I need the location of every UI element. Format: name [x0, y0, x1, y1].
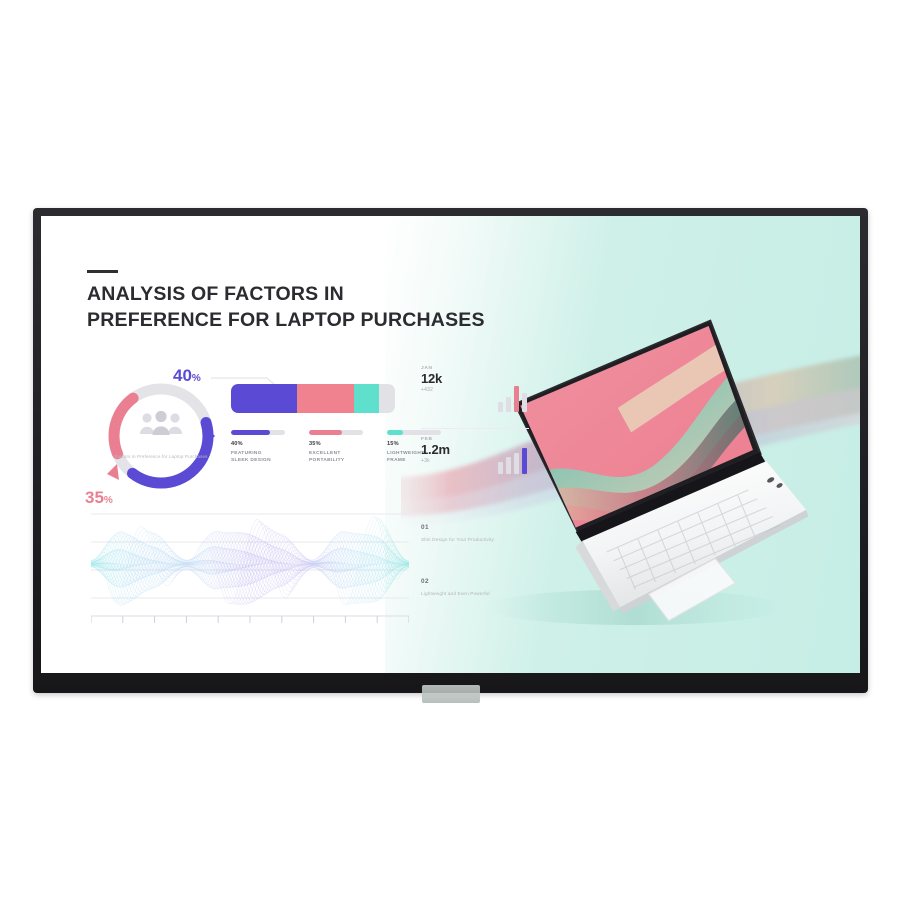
stat-value: 12k [421, 371, 529, 387]
stacked-bar-segment [231, 384, 297, 413]
legend-percent: 40% [231, 441, 285, 447]
note-item: 01Slim Design for Your Productivity [421, 524, 533, 544]
legend-item: 40%FEATURING SLEEK DESIGN [231, 430, 285, 464]
donut-bottom-value: 35 [85, 488, 104, 507]
stat-mini-bar [522, 393, 527, 412]
note-item: 02Lightweight and Even Powerful [421, 578, 533, 598]
stat-mini-bar [498, 462, 503, 474]
stacked-bar-chart [231, 384, 395, 413]
stat-mini-bar [514, 453, 519, 474]
accent-rule [87, 270, 118, 273]
stat-mini-bar [514, 386, 519, 412]
donut-bottom-symbol: % [104, 495, 113, 506]
legend-fill [309, 430, 342, 435]
monitor-screen: ANALYSIS OF FACTORS IN PREFERENCE FOR LA… [41, 216, 860, 673]
page-root: ANALYSIS OF FACTORS IN PREFERENCE FOR LA… [0, 0, 900, 900]
monitor-bezel: ANALYSIS OF FACTORS IN PREFERENCE FOR LA… [33, 208, 868, 693]
legend-track [231, 430, 285, 435]
stats-panel: JAN12k+432FEB1.2m+3k [421, 366, 529, 490]
legend-label: FEATURING SLEEK DESIGN [231, 450, 285, 464]
people-group-icon [139, 410, 183, 436]
legend-group: 40%FEATURING SLEEK DESIGN35%EXCELLENT PO… [231, 430, 441, 464]
monitor-device: ANALYSIS OF FACTORS IN PREFERENCE FOR LA… [33, 208, 868, 693]
stat-mini-bar [506, 457, 511, 474]
stat-mini-bar-chart [498, 386, 527, 412]
note-number: 02 [421, 578, 533, 585]
legend-label: EXCELLENT PORTABILITY [309, 450, 363, 464]
legend-item: 35%EXCELLENT PORTABILITY [309, 430, 363, 464]
donut-center-label: Factors in Preference for Laptop Purchas… [114, 454, 208, 461]
stat-mini-bar [522, 448, 527, 474]
legend-fill [387, 430, 403, 435]
stacked-bar-segment [354, 384, 379, 413]
monitor-stand-nub [422, 685, 480, 703]
donut-bottom-percent: 35% [85, 488, 113, 508]
legend-fill [231, 430, 270, 435]
note-text: Slim Design for Your Productivity [421, 536, 533, 544]
donut-top-value: 40 [173, 366, 192, 385]
note-text: Lightweight and Even Powerful [421, 590, 533, 598]
donut-top-symbol: % [192, 373, 201, 384]
stat-mini-bar [506, 397, 511, 412]
slide-canvas: ANALYSIS OF FACTORS IN PREFERENCE FOR LA… [41, 216, 860, 673]
page-title: ANALYSIS OF FACTORS IN PREFERENCE FOR LA… [87, 282, 485, 333]
wave-chart [91, 506, 409, 634]
stat-row: FEB1.2m+3k [421, 428, 529, 490]
donut-top-percent: 40% [173, 366, 201, 386]
stat-mini-bar [498, 402, 503, 412]
wave-chart-svg [91, 506, 409, 634]
notes-list: 01Slim Design for Your Productivity02Lig… [421, 524, 533, 598]
stacked-bar-segment [297, 384, 354, 413]
note-number: 01 [421, 524, 533, 531]
stat-mini-bar-chart [498, 448, 527, 474]
stat-row: JAN12k+432 [421, 366, 529, 428]
legend-percent: 35% [309, 441, 363, 447]
legend-track [309, 430, 363, 435]
